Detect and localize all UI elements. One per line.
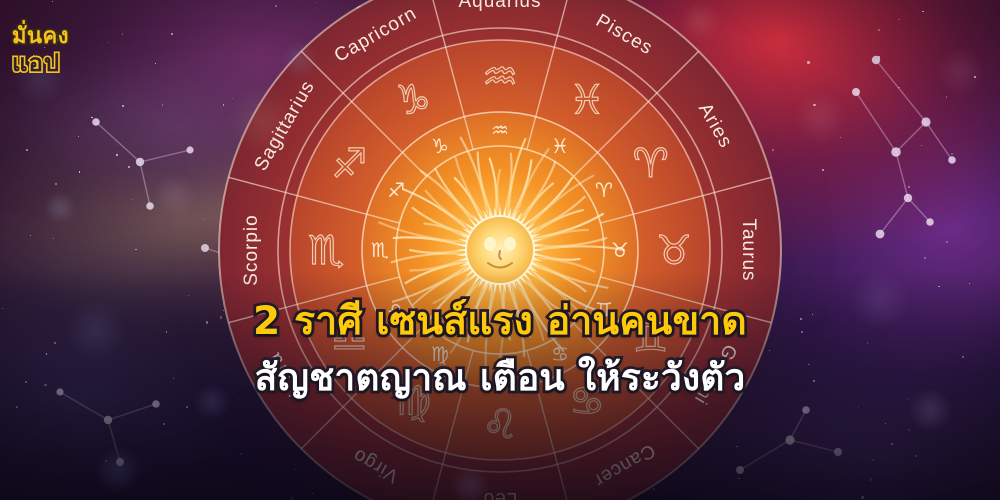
brand-logo-line2: แอป (12, 51, 69, 75)
brand-logo[interactable]: มั่นคง แอป (12, 26, 69, 75)
brand-logo-line1: มั่นคง (12, 26, 69, 48)
zodiac-banner: ♒♓♈♉♊♋♌♍♎♏♐♑ ♒♓♈♉♊♋♌♍♎♏♐♑ AquariusPisces… (0, 0, 1000, 500)
